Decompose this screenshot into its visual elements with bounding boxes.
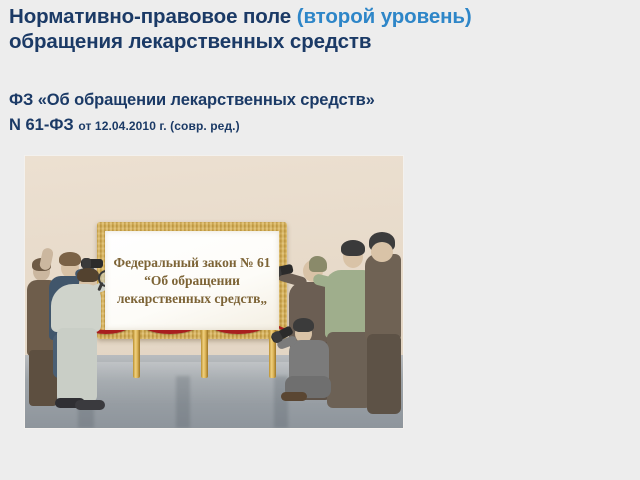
person-hair — [293, 318, 314, 332]
person-torso — [365, 254, 401, 340]
subtitle-block: ФЗ «Об обращении лекарственных средств» … — [9, 88, 509, 139]
person-hair — [77, 268, 99, 282]
billboard-frame: Федеральный закон № 61 “Об обращении лек… — [97, 222, 287, 339]
title-line-1-main: Нормативно-правовое поле — [9, 5, 297, 28]
billboard-line-3: лекарственных средств„ — [117, 291, 267, 307]
person-observer-far-right — [363, 228, 403, 418]
person-hair — [341, 240, 365, 256]
subtitle-law-number-line: N 61-ФЗ от 12.04.2010 г. (совр. ред.) — [9, 113, 509, 139]
person-head — [371, 242, 393, 262]
title-line-1-accent: (второй уровень) — [297, 5, 472, 28]
page-title: Нормативно-правовое поле (второй уровень… — [9, 4, 633, 54]
billboard-line-2: “Об обращении — [144, 273, 240, 289]
scene-wall: Федеральный закон № 61 “Об обращении лек… — [25, 156, 403, 428]
person-legs — [57, 328, 97, 402]
floor-shadow — [176, 376, 190, 428]
illustration-image: Федеральный закон № 61 “Об обращении лек… — [25, 156, 403, 428]
subtitle-law-date: от 12.04.2010 г. (совр. ред.) — [78, 119, 239, 133]
person-shoe — [75, 400, 105, 410]
billboard-face: Федеральный закон № 61 “Об обращении лек… — [105, 231, 279, 330]
subtitle-law-name: ФЗ «Об обращении лекарственных средств» — [9, 88, 509, 113]
person-observer-left-grey — [49, 244, 111, 414]
person-legs — [367, 334, 401, 414]
title-line-1: Нормативно-правовое поле (второй уровень… — [9, 4, 633, 29]
person-observer-kneeling — [285, 318, 349, 404]
title-line-2: обращения лекарственных средств — [9, 29, 633, 54]
billboard-line-1: Федеральный закон № 61 — [114, 255, 271, 271]
person-shoe — [281, 392, 307, 401]
subtitle-law-number: N 61-ФЗ — [9, 116, 74, 134]
